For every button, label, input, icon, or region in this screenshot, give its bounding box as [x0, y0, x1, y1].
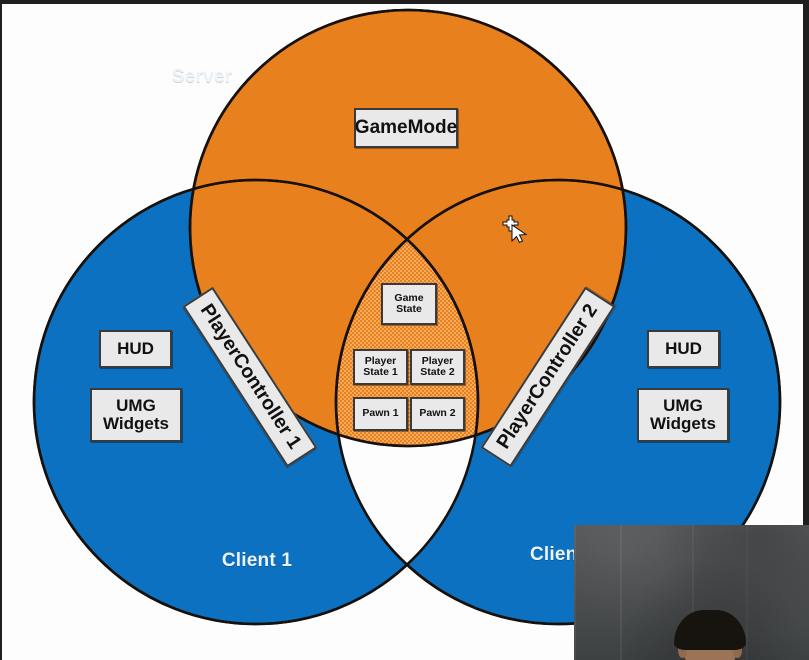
node-umg-widgets-client1[interactable]: UMG Widgets [90, 388, 182, 442]
node-umg-widgets-client2[interactable]: UMG Widgets [637, 388, 729, 442]
umg1-line2: Widgets [103, 415, 169, 433]
client1-label: Client 1 [157, 550, 357, 572]
screen: Server Client 1 Client GameMode HUD UMG … [0, 0, 809, 660]
node-playerstate-2[interactable]: Player State 2 [410, 349, 465, 385]
node-hud-client2[interactable]: HUD [647, 330, 720, 368]
move-cursor [500, 213, 532, 245]
ps2-line2: State 2 [420, 367, 454, 378]
presenter-hair [674, 610, 746, 650]
node-pawn-2[interactable]: Pawn 2 [410, 397, 465, 431]
ps1-line2: State 1 [363, 367, 397, 378]
umg2-line2: Widgets [650, 415, 716, 433]
umg2-line1: UMG [650, 397, 716, 415]
node-gamemode[interactable]: GameMode [354, 108, 458, 148]
gamestate-line2: State [394, 304, 423, 315]
webcam-overlay[interactable] [574, 525, 809, 660]
node-pawn-1[interactable]: Pawn 1 [353, 397, 408, 431]
presenter-head [666, 610, 754, 660]
node-gamestate[interactable]: Game State [381, 283, 437, 325]
umg1-line1: UMG [103, 397, 169, 415]
node-playerstate-1[interactable]: Player State 1 [353, 349, 408, 385]
node-hud-client1[interactable]: HUD [99, 330, 172, 368]
server-label: Server [2, 66, 402, 88]
